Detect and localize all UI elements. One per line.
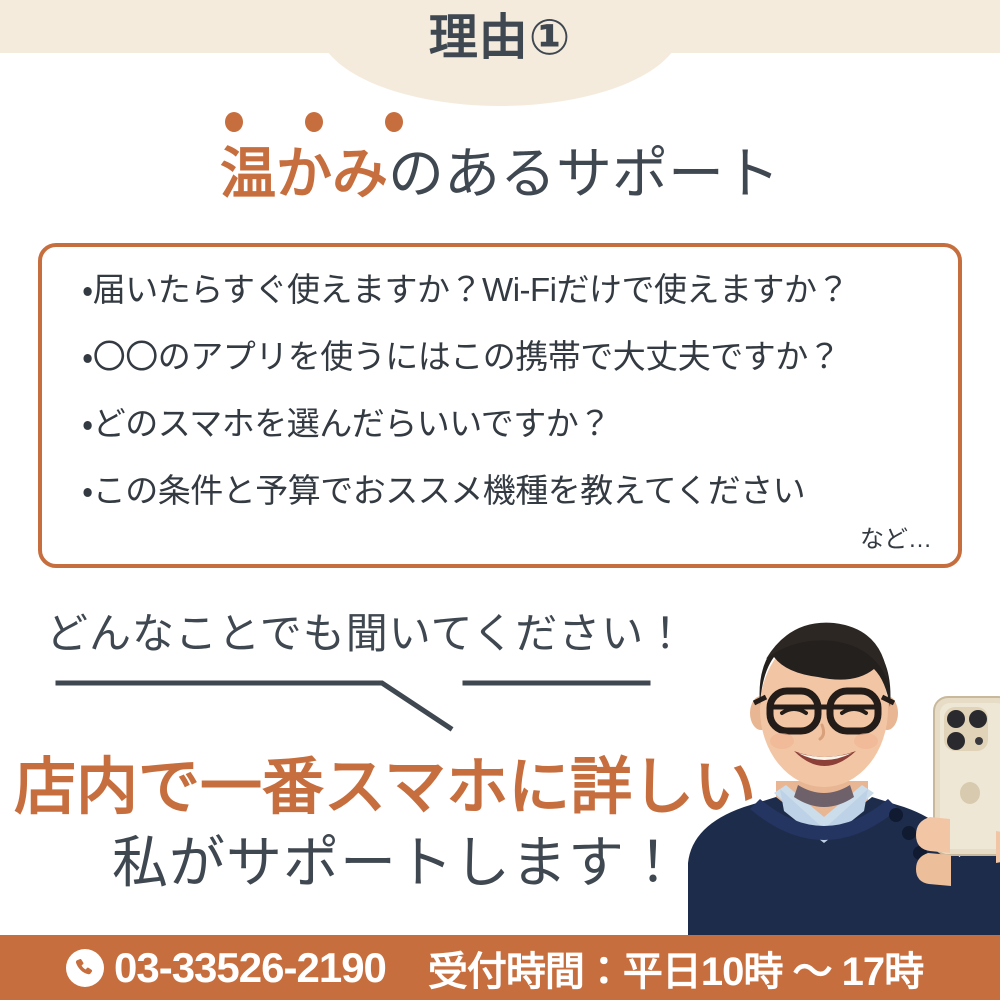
page-title: 理由① xyxy=(0,14,1000,63)
dot-icon xyxy=(385,112,403,132)
phone-number[interactable]: 03-33526-2190 xyxy=(114,944,386,992)
dot-icon xyxy=(225,112,243,132)
list-item: ・どのスマホを選んだらいいですか？ xyxy=(82,407,942,440)
invitation-text: どんなことでも聞いてください！ xyxy=(46,600,687,661)
headline-line-2: 私がサポートします！ xyxy=(112,818,682,899)
poster-root: 理由① 温かみのあるサポート ・届いたらすぐ使えますか？Wi-Fiだけで使えます… xyxy=(0,0,1000,1000)
list-item: ・〇〇のアプリを使うにはこの携帯で大丈夫ですか？ xyxy=(82,340,942,373)
question-box: ・届いたらすぐ使えますか？Wi-Fiだけで使えますか？ ・〇〇のアプリを使うには… xyxy=(38,243,962,568)
list-item: ・届いたらすぐ使えますか？Wi-Fiだけで使えますか？ xyxy=(82,273,942,306)
subtitle-highlight: 温かみ xyxy=(220,142,388,205)
headline-line-1: 店内で一番スマホに詳しい xyxy=(14,736,756,826)
phone-icon xyxy=(66,949,104,987)
speech-bubble-line-icon xyxy=(40,665,660,735)
footer-contact-bar: 03-33526-2190 受付時間：平日10時 ～ 17時 xyxy=(0,935,1000,1000)
business-hours: 受付時間：平日10時 ～ 17時 xyxy=(428,939,923,997)
question-box-note: など… xyxy=(860,519,932,554)
subtitle: 温かみのあるサポート xyxy=(0,143,1000,206)
dot-icon xyxy=(305,112,323,132)
question-list: ・届いたらすぐ使えますか？Wi-Fiだけで使えますか？ ・〇〇のアプリを使うには… xyxy=(82,273,942,507)
subtitle-rest: のあるサポート xyxy=(388,142,780,205)
decorative-dots xyxy=(225,112,403,132)
list-item: ・この条件と予算でおススメ機種を教えてください xyxy=(82,474,942,507)
